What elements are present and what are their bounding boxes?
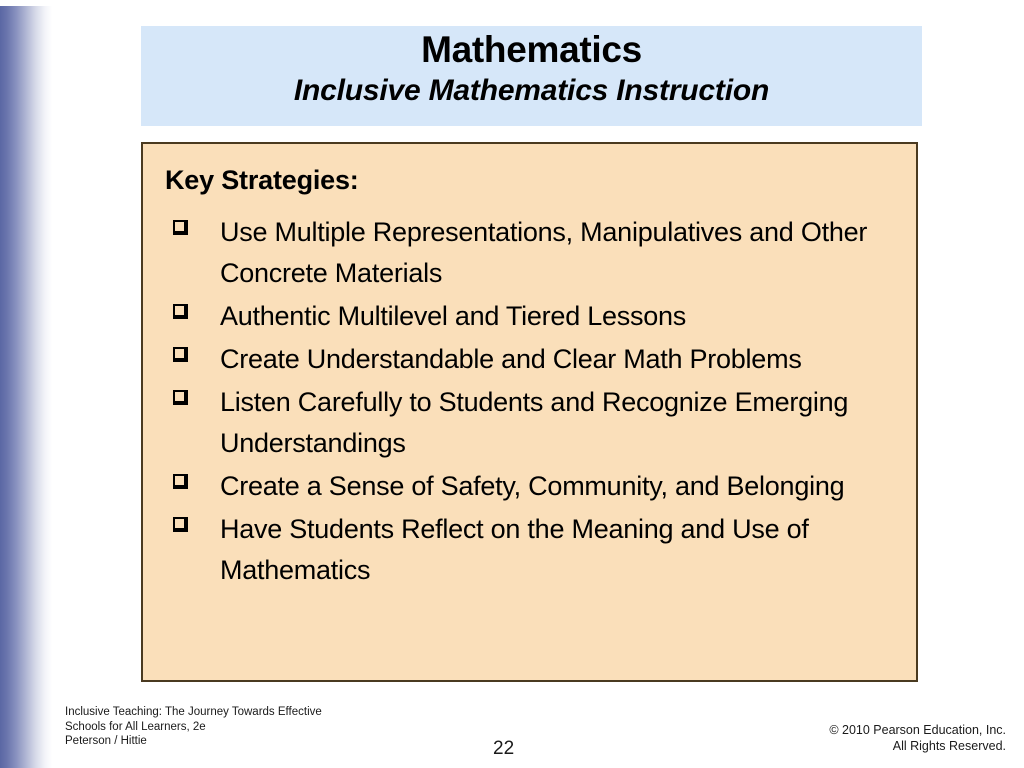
checkbox-square-icon bbox=[173, 339, 195, 362]
list-item: Create a Sense of Safety, Community, and… bbox=[161, 466, 898, 507]
list-item: Listen Carefully to Students and Recogni… bbox=[161, 382, 898, 464]
checkbox-square-icon bbox=[173, 382, 195, 405]
page-number: 22 bbox=[493, 738, 514, 760]
title-banner: Mathematics Inclusive Mathematics Instru… bbox=[141, 26, 922, 126]
source-citation-line-3: Peterson / Hittie bbox=[65, 734, 322, 749]
list-item-label: Create Understandable and Clear Math Pro… bbox=[220, 339, 898, 380]
list-item-label: Authentic Multilevel and Tiered Lessons bbox=[220, 296, 898, 337]
section-heading: Key Strategies: bbox=[165, 164, 898, 196]
list-item-label: Have Students Reflect on the Meaning and… bbox=[220, 509, 898, 591]
strategy-list: Use Multiple Representations, Manipulati… bbox=[161, 212, 898, 591]
checkbox-square-icon bbox=[173, 212, 195, 235]
checkbox-square-icon bbox=[173, 509, 195, 532]
copyright-notice: © 2010 Pearson Education, Inc. All Right… bbox=[829, 722, 1006, 754]
content-panel: Key Strategies: Use Multiple Representat… bbox=[141, 142, 918, 682]
list-item-label: Use Multiple Representations, Manipulati… bbox=[220, 212, 898, 294]
checkbox-square-icon bbox=[173, 296, 195, 319]
page-title: Mathematics bbox=[141, 28, 922, 72]
copyright-line-2: All Rights Reserved. bbox=[829, 738, 1006, 754]
list-item-label: Listen Carefully to Students and Recogni… bbox=[220, 382, 898, 464]
page-subtitle: Inclusive Mathematics Instruction bbox=[141, 72, 922, 110]
list-item: Authentic Multilevel and Tiered Lessons bbox=[161, 296, 898, 337]
list-item: Use Multiple Representations, Manipulati… bbox=[161, 212, 898, 294]
source-citation: Inclusive Teaching: The Journey Towards … bbox=[65, 705, 322, 749]
checkbox-square-icon bbox=[173, 466, 195, 489]
left-gradient-strip bbox=[0, 6, 52, 768]
list-item: Have Students Reflect on the Meaning and… bbox=[161, 509, 898, 591]
source-citation-line-2: Schools for All Learners, 2e bbox=[65, 720, 322, 735]
list-item-label: Create a Sense of Safety, Community, and… bbox=[220, 466, 898, 507]
copyright-line-1: © 2010 Pearson Education, Inc. bbox=[829, 722, 1006, 738]
source-citation-line-1: Inclusive Teaching: The Journey Towards … bbox=[65, 705, 322, 720]
list-item: Create Understandable and Clear Math Pro… bbox=[161, 339, 898, 380]
